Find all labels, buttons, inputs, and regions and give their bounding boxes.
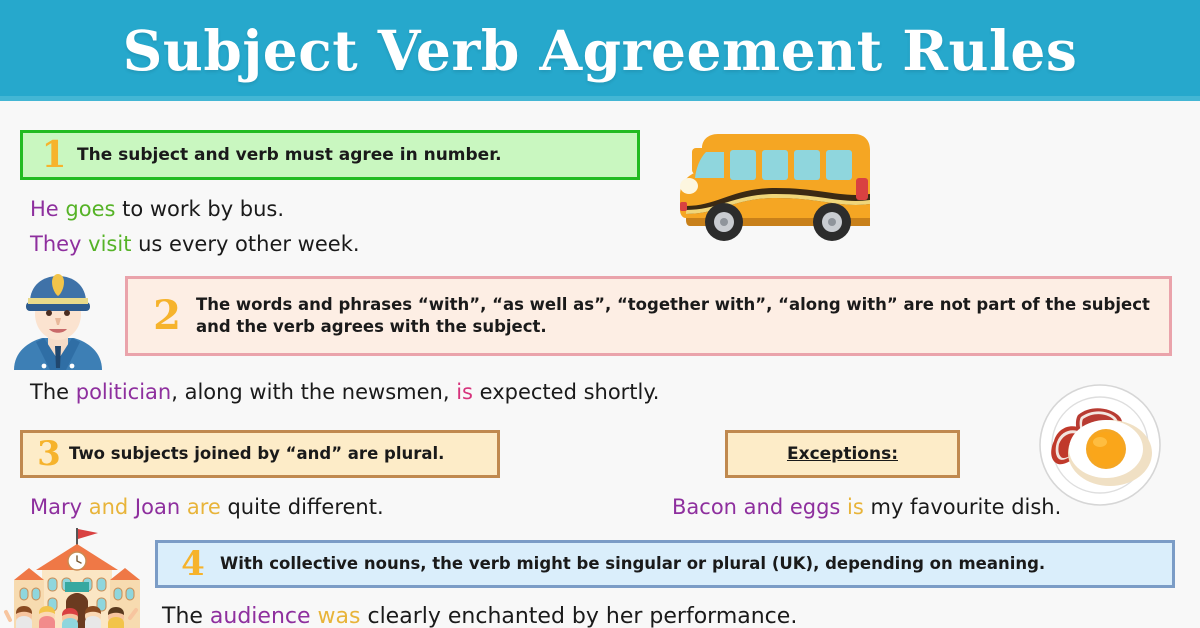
exceptions-label: Exceptions:	[787, 444, 898, 464]
page-header: Subject Verb Agreement Rules	[0, 0, 1200, 100]
sentence-fragment: clearly enchanted by her performance.	[367, 604, 797, 628]
rule-box-3: 3 Two subjects joined by “and” are plura…	[20, 430, 500, 478]
rule-number-3: 3	[29, 437, 69, 471]
example-sentence-1a: He goes to work by bus.	[30, 197, 284, 222]
sentence-fragment: are	[187, 495, 228, 519]
sentence-fragment: goes	[65, 197, 122, 221]
sentence-fragment: and	[89, 495, 135, 519]
sentence-fragment: quite different.	[227, 495, 383, 519]
sentence-fragment: is	[847, 495, 870, 519]
rule-box-2: 2 The words and phrases “with”, “as well…	[125, 276, 1172, 356]
sentence-fragment: Joan	[135, 495, 187, 519]
sentence-fragment: visit	[88, 232, 138, 256]
bacon-and-eggs-plate-illustration	[1024, 383, 1176, 508]
example-sentence-1b: They visit us every other week.	[30, 232, 360, 257]
example-sentence-2: The politician, along with the newsmen, …	[30, 380, 659, 405]
rule-text-2: The words and phrases “with”, “as well a…	[196, 294, 1159, 339]
sentence-fragment: Bacon and eggs	[672, 495, 847, 519]
sentence-fragment: Mary	[30, 495, 89, 519]
sentence-fragment: us every other week.	[138, 232, 359, 256]
sentence-fragment: politician	[76, 380, 171, 404]
exceptions-box: Exceptions:	[725, 430, 960, 478]
sentence-fragment: to work by bus.	[122, 197, 284, 221]
sentence-fragment: was	[318, 604, 368, 628]
school-building-illustration	[2, 528, 152, 628]
rule-number-2: 2	[138, 296, 196, 336]
rule-number-1: 1	[31, 137, 77, 173]
sentence-fragment: is	[456, 380, 479, 404]
infographic-page: Subject Verb Agreement Rules 1 The subje…	[0, 0, 1200, 628]
example-sentence-4: The audience was clearly enchanted by he…	[162, 604, 797, 628]
sentence-fragment: The	[162, 604, 210, 628]
sentence-fragment: audience	[210, 604, 318, 628]
rule-number-4: 4	[166, 547, 220, 581]
school-bus-illustration	[672, 122, 887, 252]
example-sentence-exception: Bacon and eggs is my favourite dish.	[672, 495, 1061, 520]
example-sentence-3: Mary and Joan are quite different.	[30, 495, 384, 520]
page-title: Subject Verb Agreement Rules	[123, 23, 1078, 78]
header-accent-strip	[0, 96, 1200, 101]
sentence-fragment: They	[30, 232, 88, 256]
sentence-fragment: He	[30, 197, 65, 221]
sentence-fragment: expected shortly.	[480, 380, 660, 404]
sentence-fragment: The	[30, 380, 76, 404]
sentence-fragment: , along with the newsmen,	[171, 380, 456, 404]
rule-text-1: The subject and verb must agree in numbe…	[77, 144, 502, 167]
rule-text-3: Two subjects joined by “and” are plural.	[69, 443, 444, 465]
rule-text-4: With collective nouns, the verb might be…	[220, 553, 1045, 575]
police-officer-illustration	[8, 268, 108, 370]
rule-box-4: 4 With collective nouns, the verb might …	[155, 540, 1175, 588]
rule-box-1: 1 The subject and verb must agree in num…	[20, 130, 640, 180]
